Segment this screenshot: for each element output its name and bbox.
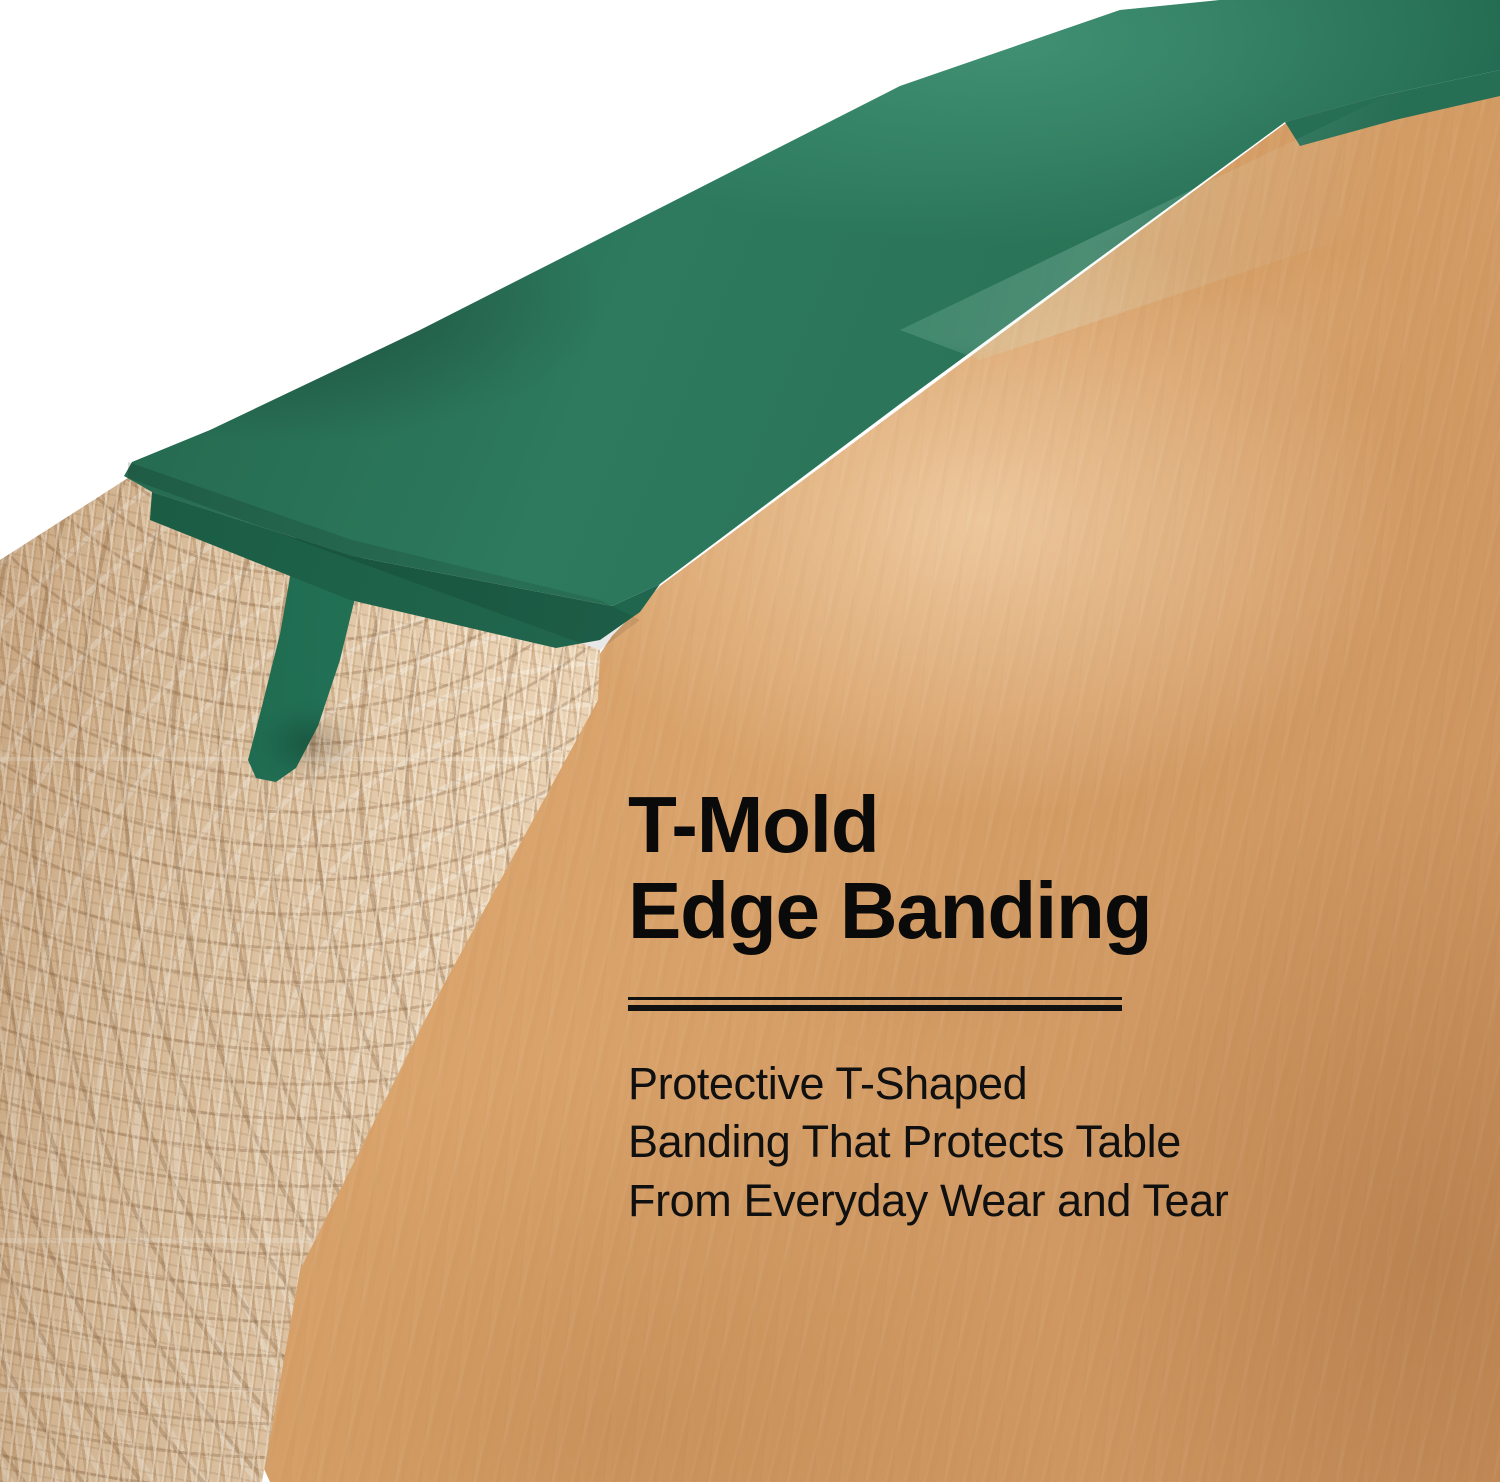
- double-rule-divider: [628, 997, 1122, 1011]
- product-feature-image: T-Mold Edge Banding Protective T-Shaped …: [0, 0, 1500, 1482]
- subcopy-line-3: From Everyday Wear and Tear: [628, 1172, 1428, 1231]
- subcopy-line-2: Banding That Protects Table: [628, 1113, 1428, 1172]
- slot-shadow: [236, 700, 386, 810]
- marketing-text-block: T-Mold Edge Banding Protective T-Shaped …: [628, 782, 1428, 1230]
- headline-line-1: T-Mold: [628, 782, 1428, 868]
- subcopy-line-1: Protective T-Shaped: [628, 1055, 1428, 1114]
- divider-rule-bottom: [628, 1005, 1122, 1011]
- headline-line-2: Edge Banding: [628, 868, 1428, 954]
- subcopy-paragraph: Protective T-Shaped Banding That Protect…: [628, 1055, 1428, 1231]
- product-photo: [0, 0, 1500, 1482]
